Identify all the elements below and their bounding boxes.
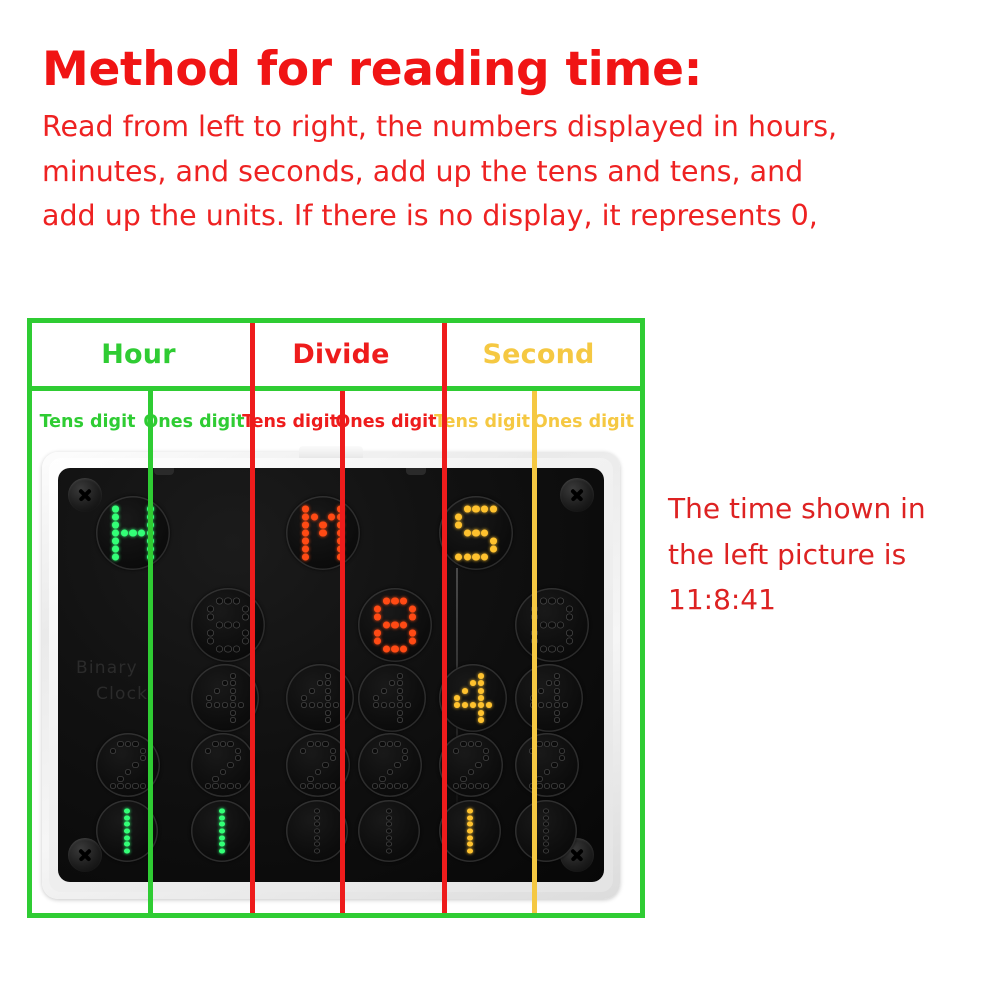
led-dot bbox=[140, 769, 146, 775]
led-dot bbox=[300, 748, 306, 754]
led-dot bbox=[325, 717, 331, 723]
led-dot bbox=[468, 741, 474, 747]
led-cell-minute-ones-2 bbox=[358, 733, 422, 797]
led-dot bbox=[124, 828, 130, 833]
led-dot bbox=[387, 762, 393, 768]
led-dot bbox=[543, 822, 549, 827]
led-dot bbox=[205, 755, 211, 761]
led-dot bbox=[372, 822, 378, 827]
led-dot bbox=[309, 710, 315, 716]
page-title: Method for reading time: bbox=[42, 46, 952, 93]
led-dot bbox=[314, 815, 320, 820]
led-dot bbox=[206, 717, 212, 723]
led-dot bbox=[562, 673, 569, 679]
led-dot bbox=[472, 546, 479, 553]
led-dot bbox=[472, 506, 479, 513]
led-dot bbox=[214, 710, 220, 716]
led-dot bbox=[301, 710, 307, 716]
led-dot bbox=[110, 762, 116, 768]
led-dot bbox=[468, 748, 474, 754]
led-dot bbox=[383, 638, 390, 645]
led-dot bbox=[478, 688, 484, 694]
led-dot bbox=[311, 530, 318, 537]
led-dot bbox=[216, 646, 223, 653]
led-dot bbox=[460, 815, 466, 820]
led-dot bbox=[379, 815, 385, 820]
led-matrix-2 bbox=[300, 741, 336, 789]
led-dot bbox=[551, 748, 557, 754]
led-dot bbox=[389, 702, 395, 708]
led-dot bbox=[311, 522, 318, 529]
led-dot bbox=[333, 680, 340, 686]
led-dot bbox=[235, 748, 241, 754]
led-dot bbox=[242, 638, 249, 645]
led-dot bbox=[207, 606, 214, 613]
led-dot bbox=[222, 688, 228, 694]
led-dot bbox=[566, 598, 573, 605]
led-dot bbox=[566, 646, 573, 653]
led-dot bbox=[301, 688, 307, 694]
led-dot bbox=[474, 809, 480, 814]
led-dot bbox=[125, 755, 131, 761]
led-dot bbox=[322, 783, 328, 789]
led-dot bbox=[226, 809, 232, 814]
led-dot bbox=[464, 514, 471, 521]
led-dot bbox=[321, 815, 327, 820]
led-dot bbox=[557, 809, 563, 814]
led-dot bbox=[379, 822, 385, 827]
led-dot bbox=[300, 755, 306, 761]
led-dot bbox=[205, 815, 211, 820]
led-dot bbox=[464, 522, 471, 529]
led-dot bbox=[381, 717, 387, 723]
led-dot bbox=[330, 748, 336, 754]
led-dot bbox=[481, 835, 487, 840]
led-dot bbox=[483, 783, 489, 789]
led-dot bbox=[112, 506, 119, 513]
led-dot bbox=[460, 848, 466, 853]
led-dot bbox=[453, 755, 459, 761]
led-dot bbox=[400, 622, 407, 629]
led-dot bbox=[474, 842, 480, 847]
led-dot bbox=[325, 710, 331, 716]
led-dot bbox=[372, 809, 378, 814]
led-dot bbox=[129, 546, 136, 553]
led-dot bbox=[117, 809, 123, 814]
led-dot bbox=[372, 769, 378, 775]
led-dot bbox=[546, 702, 552, 708]
led-dot bbox=[490, 554, 497, 561]
led-dot bbox=[302, 514, 309, 521]
led-dot bbox=[319, 506, 326, 513]
led-dot bbox=[328, 848, 334, 853]
led-dot bbox=[559, 741, 565, 747]
led-dot bbox=[207, 646, 214, 653]
led-dot bbox=[300, 842, 306, 847]
led-dot bbox=[470, 680, 476, 686]
led-matrix-4 bbox=[373, 673, 411, 723]
led-dot bbox=[391, 606, 398, 613]
led-dot bbox=[110, 842, 116, 847]
led-dot bbox=[311, 546, 318, 553]
led-dot bbox=[216, 630, 223, 637]
led-matrix-2 bbox=[110, 741, 146, 789]
led-dot bbox=[453, 783, 459, 789]
led-dot bbox=[468, 769, 474, 775]
led-dot bbox=[220, 776, 226, 782]
led-dot bbox=[389, 688, 395, 694]
led-matrix-4 bbox=[454, 673, 492, 723]
led-cell-minute-tens-label bbox=[286, 496, 360, 570]
led-dot bbox=[307, 842, 313, 847]
led-dot bbox=[207, 638, 214, 645]
led-matrix-4 bbox=[301, 673, 339, 723]
led-dot bbox=[551, 741, 557, 747]
led-dot bbox=[455, 530, 462, 537]
legend-group-divide: Divide bbox=[245, 323, 437, 386]
led-dot bbox=[460, 762, 466, 768]
led-dot bbox=[302, 546, 309, 553]
led-dot bbox=[222, 680, 228, 686]
led-dot bbox=[205, 741, 211, 747]
led-dot bbox=[227, 769, 233, 775]
led-cell-second-ones-1 bbox=[515, 800, 577, 862]
led-dot bbox=[559, 769, 565, 775]
led-dot bbox=[544, 776, 550, 782]
led-dot bbox=[117, 741, 123, 747]
led-dot bbox=[214, 702, 220, 708]
led-dot bbox=[453, 848, 459, 853]
led-dot bbox=[301, 680, 307, 686]
led-dot bbox=[121, 554, 128, 561]
led-dot bbox=[222, 710, 228, 716]
legend-sub-label-3: Ones digit bbox=[335, 412, 436, 432]
led-dot bbox=[468, 783, 474, 789]
led-dot bbox=[464, 554, 471, 561]
legend-group-second: Second bbox=[437, 323, 640, 386]
led-dot bbox=[242, 630, 249, 637]
led-dot bbox=[138, 815, 144, 820]
led-dot bbox=[551, 769, 557, 775]
led-dot bbox=[453, 769, 459, 775]
led-dot bbox=[546, 695, 552, 701]
led-dot bbox=[464, 546, 471, 553]
led-dot bbox=[300, 762, 306, 768]
led-dot bbox=[238, 695, 245, 701]
panel-notch-left bbox=[154, 468, 174, 475]
led-dot bbox=[460, 822, 466, 827]
led-dot bbox=[550, 809, 556, 814]
led-dot bbox=[453, 835, 459, 840]
led-dot bbox=[387, 741, 393, 747]
led-dot bbox=[405, 717, 412, 723]
led-dot bbox=[373, 710, 379, 716]
led-cell-second-tens-1 bbox=[439, 800, 501, 862]
led-dot bbox=[110, 748, 116, 754]
led-dot bbox=[328, 514, 335, 521]
led-dot bbox=[212, 783, 218, 789]
led-dot bbox=[402, 776, 408, 782]
led-dot bbox=[322, 776, 328, 782]
led-dot bbox=[453, 748, 459, 754]
led-dot bbox=[235, 755, 241, 761]
led-dot bbox=[374, 630, 381, 637]
legend-sub-second-ones: Ones digit bbox=[527, 391, 640, 453]
led-dot bbox=[397, 680, 403, 686]
led-cell-hour-ones-2 bbox=[191, 733, 255, 797]
led-dot bbox=[307, 815, 313, 820]
led-dot bbox=[397, 710, 403, 716]
led-dot bbox=[562, 695, 569, 701]
led-matrix-2 bbox=[453, 741, 489, 789]
led-dot bbox=[110, 755, 116, 761]
led-dot bbox=[205, 762, 211, 768]
led-dot bbox=[540, 622, 547, 629]
led-dot bbox=[379, 842, 385, 847]
led-dot bbox=[481, 848, 487, 853]
led-dot bbox=[554, 688, 560, 694]
led-dot bbox=[302, 554, 309, 561]
led-dot bbox=[381, 673, 387, 679]
led-dot bbox=[548, 614, 555, 621]
legend-group-hour-label: Hour bbox=[101, 339, 175, 370]
led-dot bbox=[205, 776, 211, 782]
led-dot bbox=[124, 815, 130, 820]
legend-group-header-row: Hour Divide Second bbox=[32, 323, 640, 391]
legend-group-hour: Hour bbox=[32, 323, 245, 386]
led-dot bbox=[233, 842, 239, 847]
led-dot bbox=[481, 809, 487, 814]
led-dot bbox=[317, 710, 323, 716]
led-dot bbox=[559, 783, 565, 789]
led-dot bbox=[333, 673, 340, 679]
led-dot bbox=[453, 776, 459, 782]
led-dot bbox=[129, 506, 136, 513]
legend-sub-label-1: Ones digit bbox=[143, 412, 244, 432]
led-dot bbox=[205, 822, 211, 827]
led-dot bbox=[400, 638, 407, 645]
led-dot bbox=[110, 769, 116, 775]
led-dot bbox=[230, 710, 236, 716]
led-dot bbox=[453, 822, 459, 827]
led-cell-hour-ones-4 bbox=[191, 664, 259, 732]
led-matrix-1 bbox=[372, 809, 406, 854]
led-dot bbox=[393, 848, 399, 853]
panel-notch-right bbox=[406, 468, 426, 475]
led-dot bbox=[374, 614, 381, 621]
led-dot bbox=[386, 828, 392, 833]
led-dot bbox=[140, 748, 146, 754]
legend-sub-label-4: Tens digit bbox=[434, 412, 530, 432]
led-dot bbox=[478, 680, 484, 686]
led-dot bbox=[546, 688, 552, 694]
led-dot bbox=[374, 646, 381, 653]
led-dot bbox=[543, 828, 549, 833]
screw-bottom-left bbox=[68, 838, 102, 872]
led-dot bbox=[314, 809, 320, 814]
led-dot bbox=[536, 762, 542, 768]
led-dot bbox=[212, 842, 218, 847]
screw-top-right bbox=[560, 478, 594, 512]
led-dot bbox=[131, 815, 137, 820]
led-dot bbox=[302, 506, 309, 513]
led-dot bbox=[540, 598, 547, 605]
led-dot bbox=[462, 717, 468, 723]
led-cell-minute-ones-1 bbox=[358, 800, 420, 862]
led-dot bbox=[219, 815, 225, 820]
led-dot bbox=[325, 688, 331, 694]
led-matrix-s bbox=[455, 506, 497, 561]
led-dot bbox=[383, 614, 390, 621]
led-dot bbox=[405, 688, 412, 694]
led-dot bbox=[219, 835, 225, 840]
led-dot bbox=[235, 741, 241, 747]
legend-sub-minute-ones: Ones digit bbox=[335, 391, 437, 453]
led-dot bbox=[548, 630, 555, 637]
led-dot bbox=[387, 776, 393, 782]
led-dot bbox=[460, 835, 466, 840]
led-dot bbox=[206, 695, 212, 701]
led-dot bbox=[562, 680, 569, 686]
led-dot bbox=[490, 538, 497, 545]
led-dot bbox=[317, 702, 323, 708]
led-dot bbox=[566, 622, 573, 629]
led-dot bbox=[475, 741, 481, 747]
column-divider-3 bbox=[442, 323, 447, 913]
led-dot bbox=[131, 809, 137, 814]
led-dot bbox=[550, 822, 556, 827]
led-dot bbox=[233, 630, 240, 637]
led-dot bbox=[393, 809, 399, 814]
led-dot bbox=[557, 815, 563, 820]
led-dot bbox=[540, 638, 547, 645]
led-dot bbox=[212, 822, 218, 827]
led-dot bbox=[393, 842, 399, 847]
led-dot bbox=[472, 538, 479, 545]
led-dot bbox=[546, 710, 552, 716]
led-dot bbox=[536, 776, 542, 782]
led-dot bbox=[226, 815, 232, 820]
led-dot bbox=[481, 815, 487, 820]
led-dot bbox=[205, 769, 211, 775]
led-dot bbox=[393, 835, 399, 840]
led-dot bbox=[307, 783, 313, 789]
led-dot bbox=[233, 646, 240, 653]
led-dot bbox=[543, 842, 549, 847]
led-dot bbox=[373, 695, 379, 701]
led-dot bbox=[490, 522, 497, 529]
led-dot bbox=[486, 710, 493, 716]
led-dot bbox=[454, 710, 460, 716]
led-dot bbox=[562, 717, 569, 723]
led-dot bbox=[372, 828, 378, 833]
led-dot bbox=[138, 828, 144, 833]
led-dot bbox=[138, 554, 145, 561]
led-dot bbox=[140, 755, 146, 761]
led-dot bbox=[110, 783, 116, 789]
led-dot bbox=[307, 769, 313, 775]
led-dot bbox=[389, 680, 395, 686]
led-dot bbox=[472, 514, 479, 521]
led-dot bbox=[216, 638, 223, 645]
led-dot bbox=[238, 710, 245, 716]
led-dot bbox=[131, 842, 137, 847]
led-dot bbox=[319, 522, 326, 529]
led-dot bbox=[230, 688, 236, 694]
led-dot bbox=[233, 606, 240, 613]
led-dot bbox=[550, 842, 556, 847]
led-dot bbox=[328, 530, 335, 537]
led-dot bbox=[454, 680, 460, 686]
led-dot bbox=[125, 748, 131, 754]
led-dot bbox=[391, 630, 398, 637]
led-dot bbox=[121, 506, 128, 513]
led-dot bbox=[394, 783, 400, 789]
led-dot bbox=[460, 741, 466, 747]
legend-sub-hour-ones: Ones digit bbox=[143, 391, 245, 453]
led-cell-second-ones-4 bbox=[515, 664, 583, 732]
led-dot bbox=[481, 546, 488, 553]
led-dot bbox=[551, 776, 557, 782]
led-dot bbox=[481, 530, 488, 537]
led-dot bbox=[233, 822, 239, 827]
led-dot bbox=[379, 769, 385, 775]
time-answer-line-1: The time shown in bbox=[668, 486, 988, 532]
led-dot bbox=[117, 848, 123, 853]
led-dot bbox=[300, 822, 306, 827]
led-dot bbox=[551, 783, 557, 789]
led-dot bbox=[383, 622, 390, 629]
led-dot bbox=[383, 598, 390, 605]
legend-group-divide-label: Divide bbox=[292, 339, 389, 370]
led-dot bbox=[409, 598, 416, 605]
led-dot bbox=[540, 646, 547, 653]
led-dot bbox=[554, 680, 560, 686]
led-matrix-1 bbox=[453, 809, 487, 854]
led-dot bbox=[372, 762, 378, 768]
led-dot bbox=[394, 748, 400, 754]
led-dot bbox=[230, 695, 236, 701]
led-dot bbox=[379, 783, 385, 789]
led-dot bbox=[400, 630, 407, 637]
led-dot bbox=[124, 822, 130, 827]
led-dot bbox=[315, 783, 321, 789]
led-dot bbox=[483, 748, 489, 754]
led-dot bbox=[230, 717, 236, 723]
led-dot bbox=[478, 717, 484, 723]
led-dot bbox=[409, 646, 416, 653]
led-dot bbox=[566, 614, 573, 621]
led-dot bbox=[397, 688, 403, 694]
led-dot bbox=[379, 835, 385, 840]
legend-sub-label-0: Tens digit bbox=[40, 412, 136, 432]
led-dot bbox=[129, 522, 136, 529]
led-dot bbox=[462, 688, 468, 694]
led-dot bbox=[309, 702, 315, 708]
led-dot bbox=[554, 695, 560, 701]
led-dot bbox=[486, 680, 493, 686]
brand-line-2: Clock bbox=[96, 682, 148, 708]
instruction-line-3: add up the units. If there is no display… bbox=[42, 194, 952, 239]
led-cell-hour-ones-1 bbox=[191, 800, 253, 862]
led-dot bbox=[330, 769, 336, 775]
led-dot bbox=[214, 688, 220, 694]
led-dot bbox=[454, 702, 460, 708]
led-dot bbox=[386, 822, 392, 827]
led-dot bbox=[138, 848, 144, 853]
led-dot bbox=[462, 673, 468, 679]
led-dot bbox=[212, 848, 218, 853]
